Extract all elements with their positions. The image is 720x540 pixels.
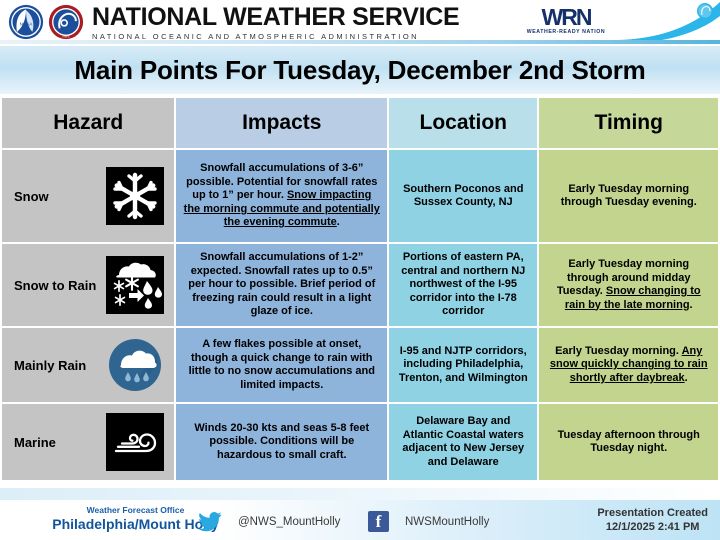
facebook-handle[interactable]: NWSMountHolly: [405, 516, 489, 528]
timing-text: Early Tuesday morning through around mid…: [539, 253, 718, 317]
snow-to-rain-icon: [106, 256, 164, 314]
location-cell: Portions of eastern PA, central and nort…: [389, 244, 537, 326]
table-row: Marine Winds 20-30 kts and seas 5-8 feet…: [2, 404, 718, 480]
hazard-label: Snow: [14, 189, 49, 204]
presentation-created-block: Presentation Created 12/1/2025 2:41 PM: [597, 506, 708, 534]
hazard-cell: Mainly Rain: [2, 328, 174, 402]
agency-title: NATIONAL WEATHER SERVICE: [92, 3, 459, 31]
location-cell: I-95 and NJTP corridors, including Phila…: [389, 328, 537, 402]
twitter-handle[interactable]: @NWS_MountHolly: [238, 516, 340, 528]
wrn-abbreviation: WRN: [520, 5, 612, 29]
header-divider: [0, 40, 720, 44]
column-header-hazard: Hazard: [2, 98, 174, 148]
location-text: Portions of eastern PA, central and nort…: [389, 246, 537, 324]
hazard-cell: Snow to Rain: [2, 244, 174, 326]
footer-bar: Weather Forecast Office Philadelphia/Mou…: [0, 500, 720, 540]
main-title-bar: Main Points For Tuesday, December 2nd St…: [0, 46, 720, 94]
impacts-text: Snowfall accumulations of 1-2” expected.…: [176, 246, 387, 324]
nws-seal-icon: NWS: [48, 4, 84, 40]
location-text: Southern Poconos and Sussex County, NJ: [389, 178, 537, 215]
wrn-tagline: WEATHER-READY NATION: [520, 29, 612, 36]
hazard-cell: Marine: [2, 404, 174, 480]
timing-cell: Tuesday afternoon through Tuesday night.: [539, 404, 718, 480]
table-row: Snow to Rain: [2, 244, 718, 326]
wrn-swoosh-icon: [612, 0, 720, 44]
column-header-impacts: Impacts: [176, 98, 387, 148]
impacts-text: Snowfall accumulations of 3-6” possible.…: [176, 157, 387, 235]
twitter-bird-icon[interactable]: [198, 512, 222, 532]
impacts-text: Winds 20-30 kts and seas 5-8 feet possib…: [176, 417, 387, 468]
timing-text: Early Tuesday morning through Tuesday ev…: [539, 178, 718, 215]
snowflake-icon: [106, 167, 164, 225]
page-title: Main Points For Tuesday, December 2nd St…: [74, 55, 645, 86]
table-row: Mainly Rain A few flakes: [2, 328, 718, 402]
impacts-cell: Snowfall accumulations of 1-2” expected.…: [176, 244, 387, 326]
timing-text: Tuesday afternoon through Tuesday night.: [539, 424, 718, 461]
impacts-cell: A few flakes possible at onset, though a…: [176, 328, 387, 402]
location-cell: Delaware Bay and Atlantic Coastal waters…: [389, 404, 537, 480]
noaa-seal-icon: NOAA: [8, 4, 44, 40]
location-text: Delaware Bay and Atlantic Coastal waters…: [389, 410, 537, 474]
column-header-location: Location: [389, 98, 537, 148]
location-text: I-95 and NJTP corridors, including Phila…: [389, 340, 537, 391]
agency-title-block: NATIONAL WEATHER SERVICE NATIONAL OCEANI…: [92, 3, 459, 42]
svg-text:NOAA: NOAA: [20, 22, 33, 27]
nws-header-banner: NOAA NWS NATIONAL WEATHER SERVICE NATION…: [0, 0, 720, 44]
timing-cell: Early Tuesday morning. Any snow quickly …: [539, 328, 718, 402]
facebook-icon[interactable]: f: [368, 511, 389, 532]
timing-cell: Early Tuesday morning through Tuesday ev…: [539, 150, 718, 242]
location-cell: Southern Poconos and Sussex County, NJ: [389, 150, 537, 242]
rain-cloud-icon: [106, 336, 164, 394]
svg-text:NWS: NWS: [63, 34, 70, 38]
presentation-created-timestamp: 12/1/2025 2:41 PM: [597, 520, 708, 534]
timing-text: Early Tuesday morning. Any snow quickly …: [539, 340, 718, 391]
timing-cell: Early Tuesday morning through around mid…: [539, 244, 718, 326]
column-header-timing: Timing: [539, 98, 718, 148]
hazard-label: Marine: [14, 435, 56, 450]
weather-ready-nation-logo: WRN WEATHER-READY NATION: [520, 5, 612, 39]
hazard-label: Mainly Rain: [14, 358, 86, 373]
presentation-created-label: Presentation Created: [597, 506, 708, 520]
hazard-summary-table: Hazard Impacts Location Timing Snow: [0, 96, 720, 482]
wind-icon: [106, 413, 164, 471]
hazard-label: Snow to Rain: [14, 278, 96, 293]
table-header-row: Hazard Impacts Location Timing: [2, 98, 718, 148]
table-row: Snow: [2, 150, 718, 242]
hazard-cell: Snow: [2, 150, 174, 242]
impacts-text: A few flakes possible at onset, though a…: [176, 333, 387, 397]
impacts-cell: Winds 20-30 kts and seas 5-8 feet possib…: [176, 404, 387, 480]
impacts-cell: Snowfall accumulations of 3-6” possible.…: [176, 150, 387, 242]
